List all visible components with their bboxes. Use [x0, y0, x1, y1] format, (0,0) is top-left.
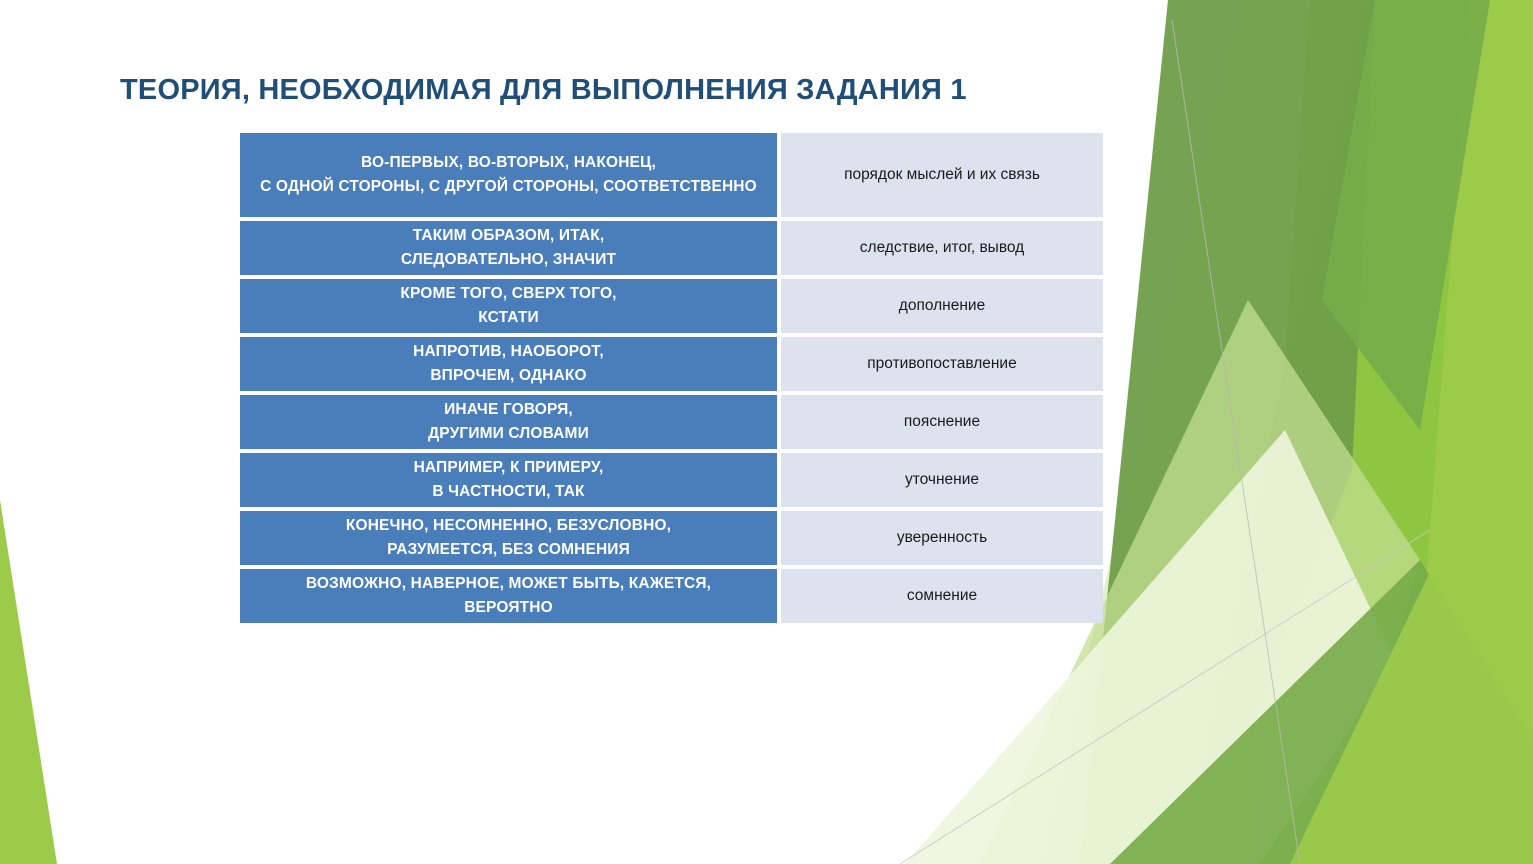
table-cell-meaning: уточнение: [781, 453, 1103, 511]
table-cell-term: КРОМЕ ТОГО, СВЕРХ ТОГО,КСТАТИ: [240, 279, 781, 337]
term-line: КРОМЕ ТОГО, СВЕРХ ТОГО,: [240, 282, 777, 306]
table-cell-term: НАПРОТИВ, НАОБОРОТ,ВПРОЧЕМ, ОДНАКО: [240, 337, 781, 395]
page-title: ТЕОРИЯ, НЕОБХОДИМАЯ ДЛЯ ВЫПОЛНЕНИЯ ЗАДАН…: [120, 74, 967, 107]
table-cell-meaning: противопоставление: [781, 337, 1103, 395]
green-dark-triangle: [1322, 0, 1490, 430]
term-line: КОНЕЧНО, НЕСОМНЕННО, БЕЗУСЛОВНО,: [240, 514, 777, 538]
green-mid-column: [1250, 0, 1470, 864]
table-cell-meaning: следствие, итог, вывод: [781, 221, 1103, 279]
table-cell-meaning: уверенность: [781, 511, 1103, 569]
table-row: НАПРИМЕР, К ПРИМЕРУ,В ЧАСТНОСТИ, ТАКуточ…: [240, 453, 1103, 511]
term-line: ИНАЧЕ ГОВОРЯ,: [240, 398, 777, 422]
green-bright-sliver: [1290, 520, 1533, 864]
table-cell-term: ИНАЧЕ ГОВОРЯ,ДРУГИМИ СЛОВАМИ: [240, 395, 781, 453]
term-line: ДРУГИМИ СЛОВАМИ: [240, 422, 777, 446]
table-row: ИНАЧЕ ГОВОРЯ,ДРУГИМИ СЛОВАМИпояснение: [240, 395, 1103, 453]
term-line: НАПРИМЕР, К ПРИМЕРУ,: [240, 456, 777, 480]
table-cell-meaning: порядок мыслей и их связь: [781, 133, 1103, 221]
green-dark-blade: [1080, 0, 1375, 864]
table-cell-term: КОНЕЧНО, НЕСОМНЕННО, БЕЗУСЛОВНО,РАЗУМЕЕТ…: [240, 511, 781, 569]
term-line: СЛЕДОВАТЕЛЬНО, ЗНАЧИТ: [240, 248, 777, 272]
term-line: ВЕРОЯТНО: [240, 596, 777, 620]
table-row: ВО-ПЕРВЫХ, ВО-ВТОРЫХ, НАКОНЕЦ,С ОДНОЙ СТ…: [240, 133, 1103, 221]
term-line: ВПРОЧЕМ, ОДНАКО: [240, 364, 777, 388]
theory-table-body: ВО-ПЕРВЫХ, ВО-ВТОРЫХ, НАКОНЕЦ,С ОДНОЙ СТ…: [240, 133, 1103, 623]
table-row: ТАКИМ ОБРАЗОМ, ИТАК,СЛЕДОВАТЕЛЬНО, ЗНАЧИ…: [240, 221, 1103, 279]
term-line: НАПРОТИВ, НАОБОРОТ,: [240, 340, 777, 364]
hairline-upper: [1172, 20, 1300, 864]
term-line: В ЧАСТНОСТИ, ТАК: [240, 480, 777, 504]
table-cell-term: ВОЗМОЖНО, НАВЕРНОЕ, МОЖЕТ БЫТЬ, КАЖЕТСЯ,…: [240, 569, 781, 623]
left-green-wedge: [0, 500, 57, 864]
table-cell-meaning: пояснение: [781, 395, 1103, 453]
green-bright-right-panel: [1180, 0, 1533, 864]
term-line: ВО-ПЕРВЫХ, ВО-ВТОРЫХ, НАКОНЕЦ,: [240, 151, 777, 175]
term-line: КСТАТИ: [240, 306, 777, 330]
term-line: ВОЗМОЖНО, НАВЕРНОЕ, МОЖЕТ БЫТЬ, КАЖЕТСЯ,: [240, 572, 777, 596]
green-mid-lower-triangle: [1110, 560, 1533, 864]
table-row: КРОМЕ ТОГО, СВЕРХ ТОГО,КСТАТИдополнение: [240, 279, 1103, 337]
table-row: КОНЕЧНО, НЕСОМНЕННО, БЕЗУСЛОВНО,РАЗУМЕЕТ…: [240, 511, 1103, 569]
table-cell-meaning: дополнение: [781, 279, 1103, 337]
term-line: ТАКИМ ОБРАЗОМ, ИТАК,: [240, 224, 777, 248]
green-pale-band: [1040, 0, 1533, 864]
theory-table: ВО-ПЕРВЫХ, ВО-ВТОРЫХ, НАКОНЕЦ,С ОДНОЙ СТ…: [240, 133, 1103, 623]
table-row: НАПРОТИВ, НАОБОРОТ,ВПРОЧЕМ, ОДНАКОпротив…: [240, 337, 1103, 395]
term-line: С ОДНОЙ СТОРОНЫ, С ДРУГОЙ СТОРОНЫ, СООТВ…: [240, 175, 777, 199]
term-line: РАЗУМЕЕТСЯ, БЕЗ СОМНЕНИЯ: [240, 538, 777, 562]
table-row: ВОЗМОЖНО, НАВЕРНОЕ, МОЖЕТ БЫТЬ, КАЖЕТСЯ,…: [240, 569, 1103, 623]
table-cell-meaning: сомнение: [781, 569, 1103, 623]
table-cell-term: ВО-ПЕРВЫХ, ВО-ВТОРЫХ, НАКОНЕЦ,С ОДНОЙ СТ…: [240, 133, 781, 221]
table-cell-term: НАПРИМЕР, К ПРИМЕРУ,В ЧАСТНОСТИ, ТАК: [240, 453, 781, 511]
table-cell-term: ТАКИМ ОБРАЗОМ, ИТАК,СЛЕДОВАТЕЛЬНО, ЗНАЧИ…: [240, 221, 781, 279]
